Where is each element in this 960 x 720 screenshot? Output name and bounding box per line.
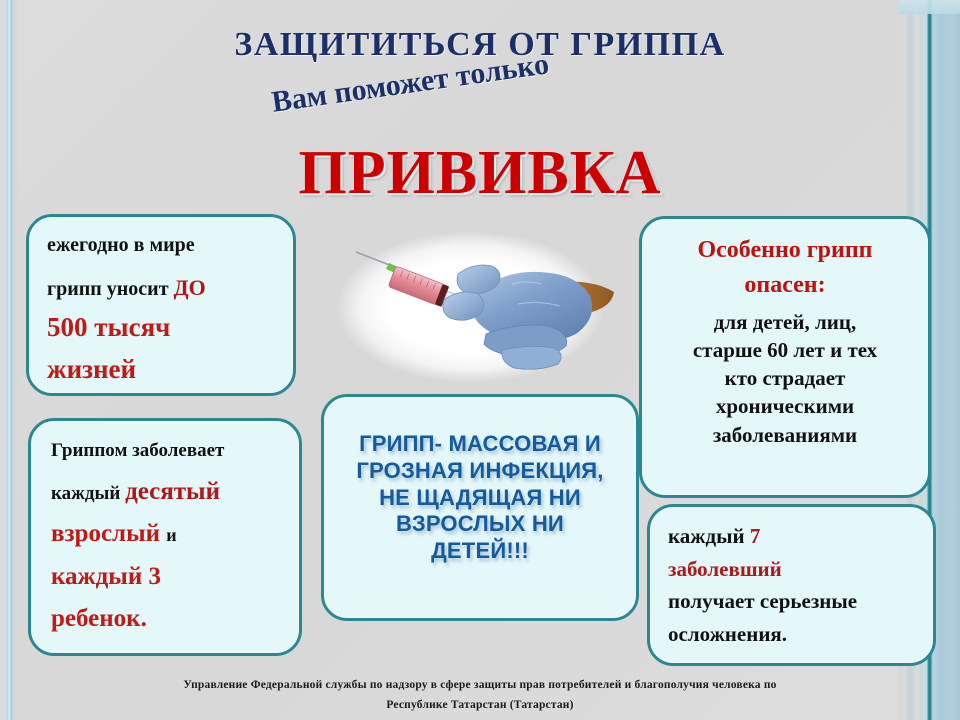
mass-infection-line3: НЕ ЩАДЯЩАЯ НИ: [338, 485, 622, 512]
fact-box-complications-content: каждый 7 заболевший получает серьезные о…: [650, 507, 933, 650]
decorative-top-right-border: [898, 0, 960, 14]
fact-box-mass-infection: ГРИПП- МАССОВАЯ И ГРОЗНАЯ ИНФЕКЦИЯ, НЕ Щ…: [321, 394, 639, 621]
risk-groups-heading-line2: опасен:: [652, 268, 918, 303]
annual-deaths-line2-black: грипп уносит: [47, 278, 169, 300]
annual-deaths-line1: ежегодно в мире: [47, 231, 293, 260]
mass-infection-line1: ГРИПП- МАССОВАЯ И: [338, 431, 622, 458]
mass-infection-line2: ГРОЗНАЯ ИНФЕКЦИЯ,: [338, 458, 622, 485]
complications-line3: получает серьезные: [668, 586, 933, 617]
incidence-line2-black: каждый: [51, 483, 120, 504]
risk-groups-body-line1: для детей, лиц,: [652, 308, 918, 336]
incidence-conjunction: и: [166, 525, 176, 545]
risk-groups-body-line3: кто страдает: [652, 364, 918, 392]
risk-groups-heading-line1: Особенно грипп: [652, 233, 918, 268]
fact-box-annual-deaths-content: ежегодно в мире грипп уносит ДО 500 тыся…: [29, 217, 293, 389]
incidence-children-word: ребенок.: [51, 601, 299, 638]
mass-infection-line5: ДЕТЕЙ!!!: [338, 538, 622, 565]
incidence-adults: взрослый: [51, 520, 160, 547]
gloved-hand-with-syringe-icon: [326, 222, 626, 392]
footer-agency-credit: Управление Федеральной службы по надзору…: [40, 676, 920, 715]
annual-deaths-number: 500: [47, 312, 88, 342]
fact-box-mass-infection-content: ГРИПП- МАССОВАЯ И ГРОЗНАЯ ИНФЕКЦИЯ, НЕ Щ…: [324, 397, 636, 565]
complications-line4: осложнения.: [668, 619, 933, 650]
fact-box-risk-groups-content: Особенно грипп опасен: для детей, лиц, с…: [642, 219, 928, 449]
complications-line1-red: 7: [750, 524, 761, 548]
mass-infection-line4: ВЗРОСЛЫХ НИ: [338, 511, 622, 538]
footer-line2: Республике Татарстан (Татарстан): [40, 696, 920, 716]
syringe-illustration: [326, 222, 626, 392]
fact-box-incidence-rate-content: Гриппом заболевает каждый десятый взросл…: [31, 421, 299, 638]
annual-deaths-line4: жизней: [47, 350, 293, 389]
footer-line1: Управление Федеральной службы по надзору…: [183, 679, 776, 691]
complications-line1-black: каждый: [668, 524, 745, 548]
annual-deaths-unit: тысяч: [94, 312, 170, 342]
fact-box-risk-groups: Особенно грипп опасен: для детей, лиц, с…: [639, 216, 931, 498]
incidence-line1: Гриппом заболевает: [51, 437, 299, 465]
incidence-line2-red: десятый: [125, 478, 220, 505]
subtitle-wrapper: Вам поможет только: [272, 86, 672, 146]
headline-vaccination: ПРИВИВКА: [0, 138, 960, 209]
incidence-children-ratio: каждый 3: [51, 559, 299, 596]
fact-box-annual-deaths: ежегодно в мире грипп уносит ДО 500 тыся…: [26, 214, 296, 396]
decorative-left-border: [0, 0, 18, 720]
risk-groups-body-line4: хроническими: [652, 392, 918, 420]
fact-box-incidence-rate: Гриппом заболевает каждый десятый взросл…: [28, 418, 302, 656]
fact-box-complications: каждый 7 заболевший получает серьезные о…: [647, 504, 936, 666]
annual-deaths-line2-red: ДО: [174, 275, 206, 300]
complications-line2: заболевший: [668, 554, 933, 585]
risk-groups-body-line2: старше 60 лет и тех: [652, 336, 918, 364]
risk-groups-body-line5: заболеваниями: [652, 421, 918, 449]
poster-canvas: ЗАЩИТИТЬСЯ ОТ ГРИППА Вам поможет только …: [0, 0, 960, 720]
